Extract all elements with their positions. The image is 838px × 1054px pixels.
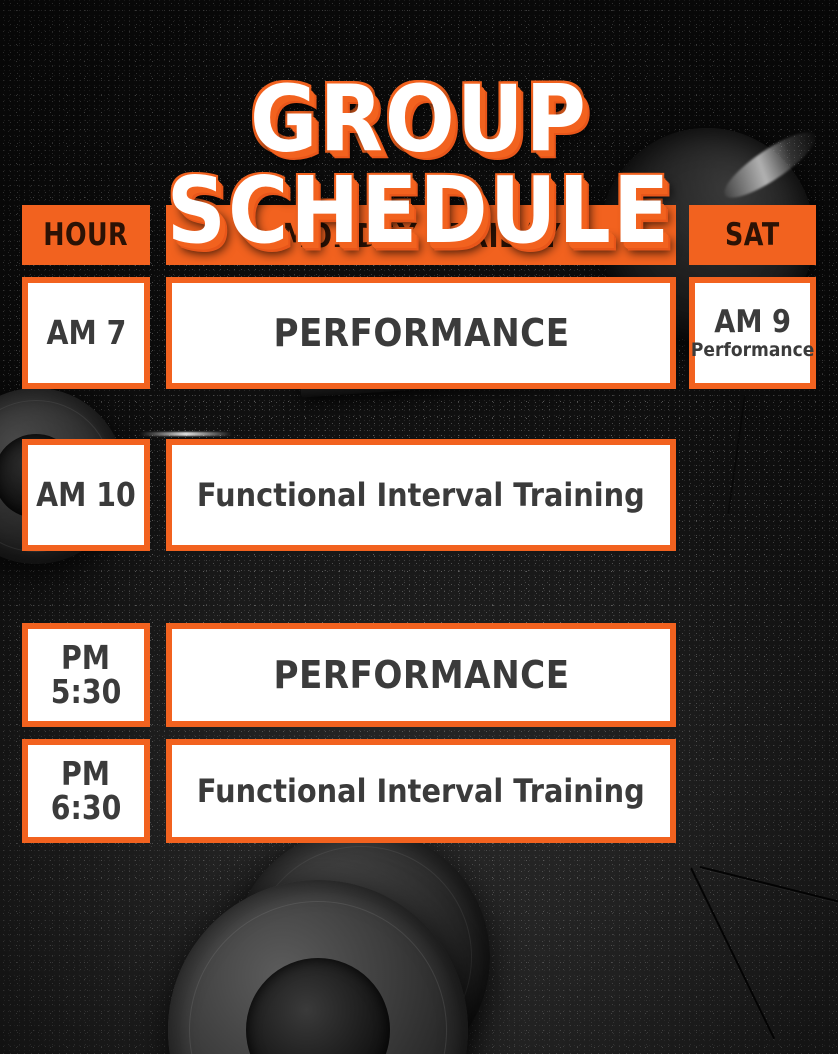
hour-label: AM 10 [36,478,136,512]
weekday-class-label: Functional Interval Training [197,772,645,810]
weekday-class-cell: PERFORMANCE [166,623,676,727]
saturday-time-label: AM 9 [714,306,791,339]
weekday-class-label: Functional Interval Training [197,476,645,514]
saturday-empty-slot [689,439,816,551]
saturday-empty-slot [689,739,816,843]
hour-label: PM [61,757,110,791]
hour-label: PM [61,641,110,675]
saturday-class-label: Performance [691,340,814,361]
group-schedule-poster: GROUP SCHEDULE HOUR MONDAY - FRIDAY SAT … [0,0,838,1054]
hour-label: AM 7 [46,316,126,350]
hour-label-time: 5:30 [51,675,122,709]
weekday-class-cell: Functional Interval Training [166,439,676,551]
saturday-empty-slot [689,623,816,727]
hour-cell: AM 7 [22,277,150,389]
table-row: PM 6:30 Functional Interval Training [0,739,838,843]
hour-cell: PM 6:30 [22,739,150,843]
table-row: PM 5:30 PERFORMANCE [0,623,838,727]
weekday-class-label: PERFORMANCE [273,311,569,355]
weekday-class-cell: PERFORMANCE [166,277,676,389]
weekday-class-cell: Functional Interval Training [166,739,676,843]
poster-title: GROUP SCHEDULE [0,74,838,232]
weekday-class-label: PERFORMANCE [273,653,569,697]
table-row: AM 7 PERFORMANCE AM 9 Performance [0,277,838,389]
hour-label-time: 6:30 [51,791,122,825]
hour-cell: AM 10 [22,439,150,551]
hour-cell: PM 5:30 [22,623,150,727]
saturday-class-cell: AM 9 Performance [689,277,816,389]
poster-title-text: GROUP SCHEDULE [0,74,838,257]
schedule-table: HOUR MONDAY - FRIDAY SAT AM 7 PERFORMANC… [0,205,838,843]
table-row: AM 10 Functional Interval Training [0,439,838,551]
